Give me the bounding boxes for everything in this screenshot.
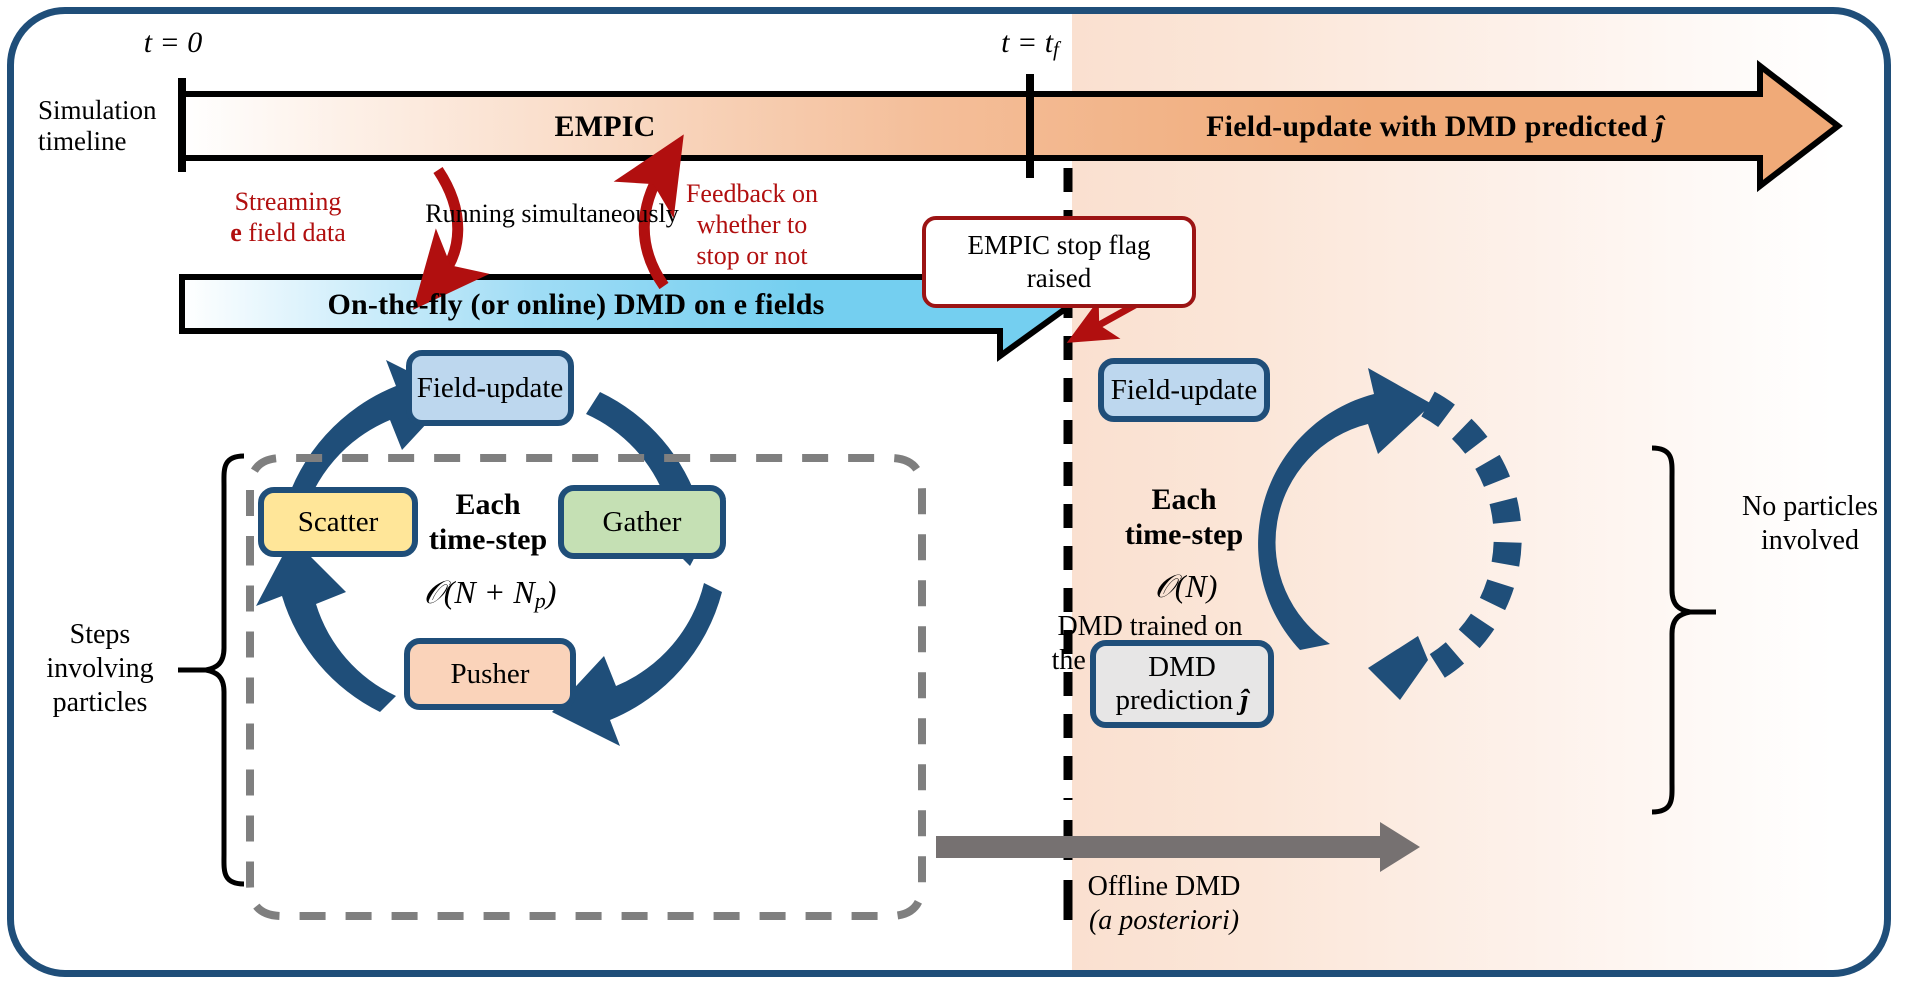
figure-canvas: Simulation timeline t = 0 t = tf EMPIC F…	[0, 0, 1908, 990]
left-cycle-field-update-label: Field-update	[417, 372, 564, 405]
left-cycle-caption-line2: time-step	[429, 522, 547, 557]
left-cycle-scatter-label: Scatter	[298, 506, 379, 539]
dmd-prediction-line2: prediction ĵ	[1116, 684, 1249, 717]
streaming-e-symbol: e	[230, 218, 242, 247]
dmd-field-update-bar-label: Field-update with DMD predicted ĵ	[1206, 110, 1664, 144]
stop-flag-line2: raised	[944, 262, 1174, 295]
steps-label-line1: Steps	[46, 618, 153, 652]
offline-dmd-line1: Offline DMD	[1088, 870, 1241, 904]
online-dmd-label-a: On-the-fly (or online) DMD on	[327, 288, 733, 321]
time-zero-marker: t = 0	[144, 26, 203, 60]
time-final-eq: = t	[1017, 26, 1053, 59]
left-cycle-node-pusher[interactable]: Pusher	[404, 638, 576, 710]
j-hat-symbol-timeline: ĵ	[1655, 110, 1664, 143]
feedback-line3: stop or not	[686, 240, 818, 271]
no-particles-line2: involved	[1742, 524, 1878, 558]
steps-label-line2: involving	[46, 652, 153, 686]
left-cycle-complexity: 𝒪(N + Np)	[424, 574, 557, 614]
running-simultaneously-annotation: Running simultaneously	[425, 198, 679, 229]
dmd-trained-line1: DMD trained on	[1052, 610, 1249, 644]
online-dmd-label-c: fields	[747, 288, 824, 321]
time-final-var: t	[1001, 26, 1009, 59]
offline-dmd-annotation: Offline DMD (a posteriori)	[1088, 870, 1241, 938]
stop-flag-line1: EMPIC stop flag	[944, 229, 1174, 262]
right-cycle-caption-line1: Each	[1125, 482, 1243, 517]
left-curly-brace	[206, 456, 244, 884]
right-cycle-caption-line2: time-step	[1125, 517, 1243, 552]
empic-bar-label: EMPIC	[555, 110, 656, 144]
streaming-annotation: Streaming e field data	[230, 186, 346, 248]
right-curly-brace	[1652, 448, 1690, 812]
time-final-marker: t = tf	[1001, 26, 1059, 62]
right-cycle-complexity: 𝒪(N)	[1155, 568, 1218, 606]
streaming-line2-rest: field data	[242, 218, 346, 247]
dmd-bar-label-text: Field-update with DMD predicted	[1206, 110, 1655, 143]
online-dmd-bar-label: On-the-fly (or online) DMD on e fields	[327, 288, 824, 322]
left-cycle-node-field-update[interactable]: Field-update	[406, 350, 574, 426]
e-field-symbol: e	[734, 288, 748, 321]
right-cycle-caption: Each time-step	[1125, 482, 1243, 552]
time-zero-var: t	[144, 26, 152, 59]
feedback-annotation: Feedback on whether to stop or not	[686, 178, 818, 271]
timeline-row-label: Simulation timeline	[38, 95, 157, 157]
feedback-line1: Feedback on	[686, 178, 818, 209]
left-cycle-node-scatter[interactable]: Scatter	[258, 487, 418, 557]
no-particles-involved-label: No particles involved	[1742, 490, 1878, 558]
left-cycle-caption-line1: Each	[429, 487, 547, 522]
offline-dmd-line2: (a posteriori)	[1088, 904, 1241, 938]
streaming-line1: Streaming	[230, 186, 346, 217]
feedback-line2: whether to	[686, 209, 818, 240]
left-complexity-main: 𝒪(N + N	[424, 574, 535, 610]
dmd-prediction-line1: DMD	[1148, 651, 1216, 684]
right-cycle-node-dmd-prediction[interactable]: DMD prediction ĵ	[1090, 640, 1274, 728]
streaming-line2: e field data	[230, 217, 346, 248]
left-cycle-node-gather[interactable]: Gather	[558, 485, 726, 559]
empic-stop-flag-callout: EMPIC stop flag raised	[922, 216, 1196, 308]
left-complexity-sub: p	[535, 588, 546, 613]
right-cycle-node-field-update[interactable]: Field-update	[1098, 358, 1270, 422]
dmd-prediction-text: prediction	[1116, 684, 1241, 716]
offline-dmd-arrow	[936, 822, 1420, 872]
no-particles-line1: No particles	[1742, 490, 1878, 524]
time-zero-eq: = 0	[160, 26, 203, 59]
right-cycle-arrows	[1258, 368, 1508, 700]
left-cycle-caption: Each time-step	[429, 487, 547, 557]
time-final-sub: f	[1053, 37, 1059, 61]
steps-involving-particles-label: Steps involving particles	[46, 618, 153, 720]
timeline-row-label-line1: Simulation	[38, 95, 157, 126]
timeline-row-label-line2: timeline	[38, 126, 157, 157]
left-complexity-close: )	[546, 574, 557, 610]
left-cycle-gather-label: Gather	[603, 506, 682, 539]
j-hat-symbol-prediction: ĵ	[1240, 684, 1248, 716]
right-cycle-field-update-label: Field-update	[1111, 374, 1258, 407]
left-cycle-pusher-label: Pusher	[451, 658, 530, 691]
steps-label-line3: particles	[46, 686, 153, 720]
